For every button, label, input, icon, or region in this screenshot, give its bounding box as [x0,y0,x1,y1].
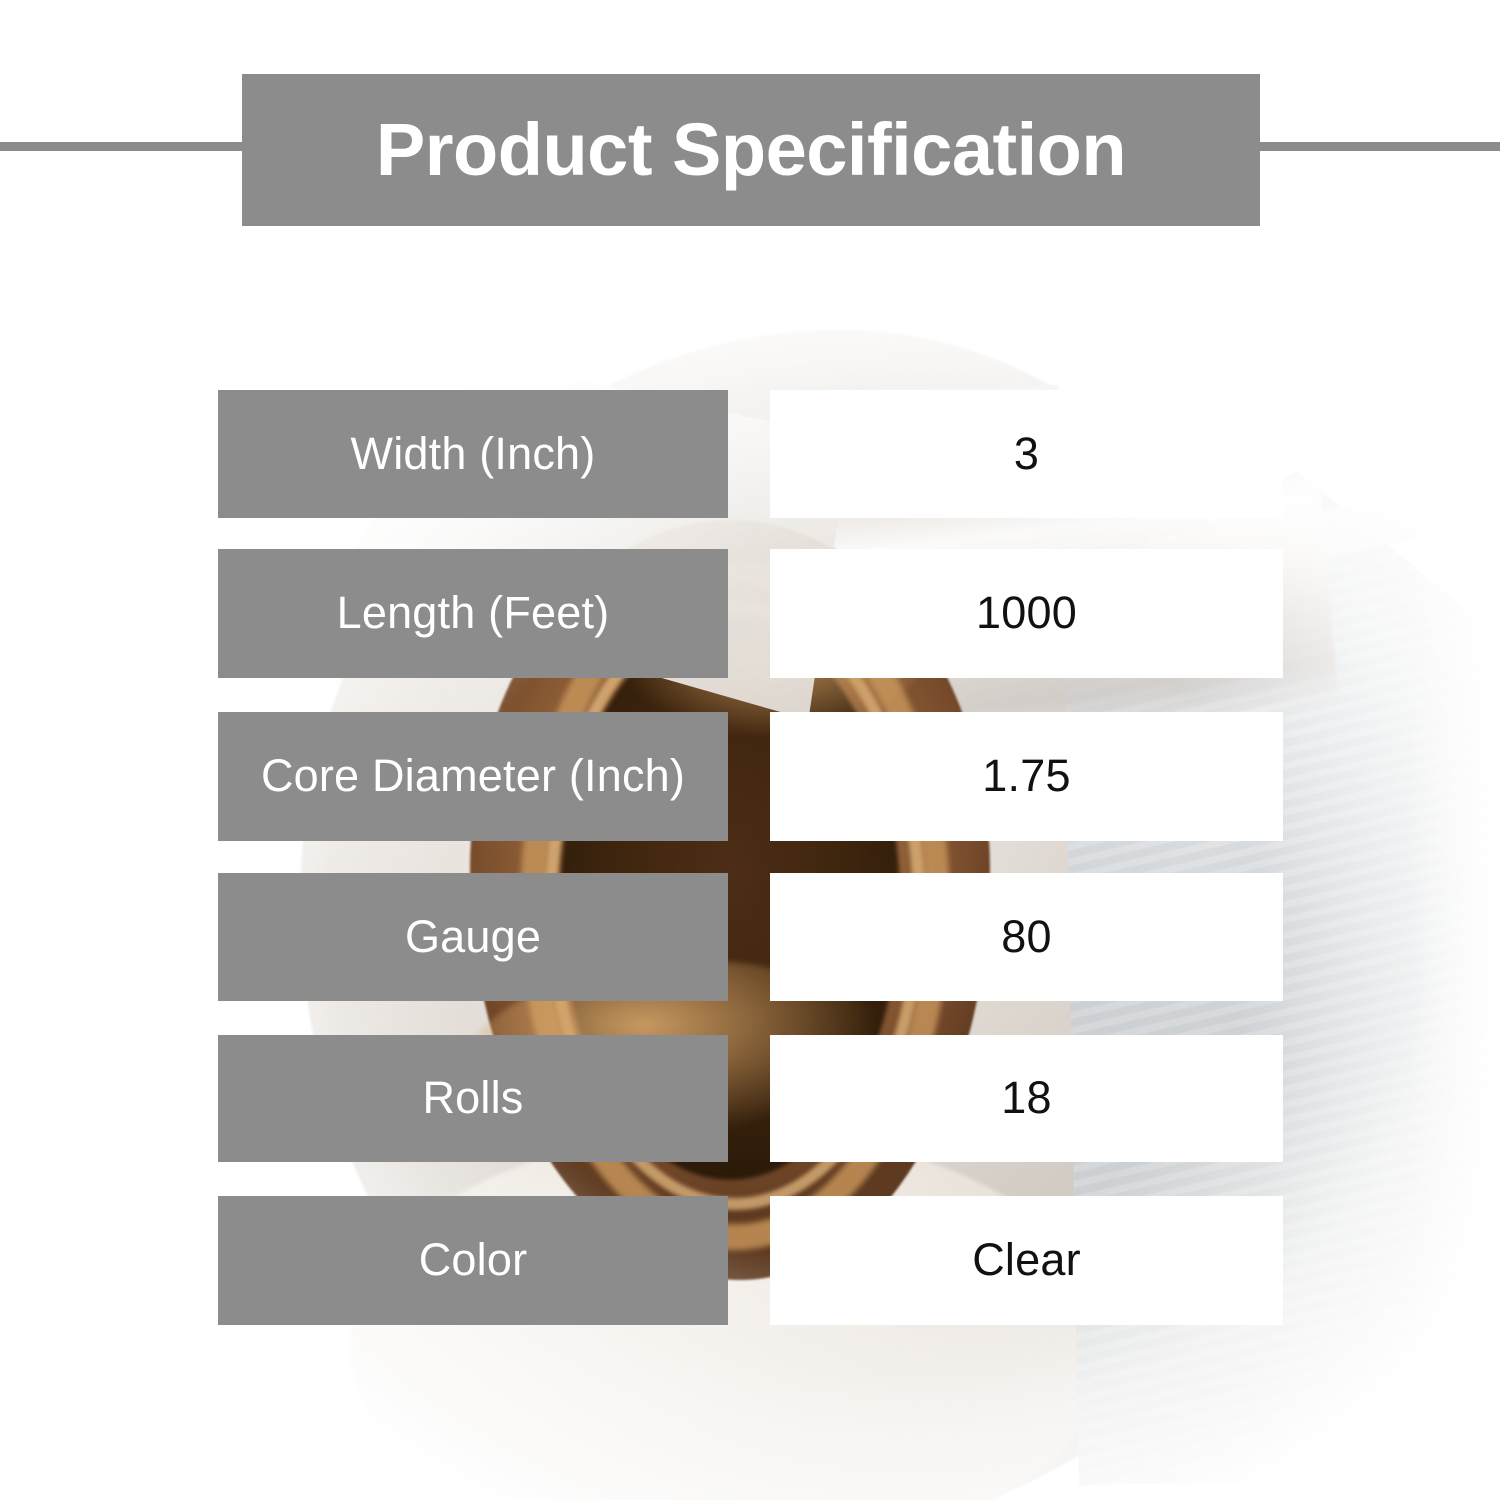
spec-value-cell: 3 [770,390,1283,518]
spec-value-text: 1.75 [982,752,1070,801]
spec-label-text: Color [419,1236,528,1285]
spec-value-text: 1000 [976,589,1077,638]
spec-value-cell: 1.75 [770,712,1283,841]
spec-label-cell: Rolls [218,1035,728,1162]
spec-value-cell: Clear [770,1196,1283,1325]
spec-label-cell: Length (Feet) [218,549,728,678]
infographic-canvas: Product Specification Width (Inch) 3 Len… [0,0,1500,1500]
spec-value-cell: 80 [770,873,1283,1001]
spec-value-text: 80 [1001,913,1051,962]
spec-label-cell: Color [218,1196,728,1325]
spec-value-cell: 1000 [770,549,1283,678]
spec-label-cell: Width (Inch) [218,390,728,518]
spec-label-text: Width (Inch) [351,430,596,479]
spec-value-text: 18 [1001,1074,1051,1123]
spec-value-cell: 18 [770,1035,1283,1162]
spec-value-text: 3 [1014,430,1039,479]
spec-label-text: Rolls [422,1074,523,1123]
spec-label-cell: Core Diameter (Inch) [218,712,728,841]
specification-table: Width (Inch) 3 Length (Feet) 1000 Core D… [0,0,1500,1500]
spec-label-cell: Gauge [218,873,728,1001]
spec-label-text: Length (Feet) [337,589,610,638]
spec-label-text: Gauge [405,913,541,962]
spec-label-text: Core Diameter (Inch) [261,752,685,801]
spec-value-text: Clear [972,1236,1081,1285]
